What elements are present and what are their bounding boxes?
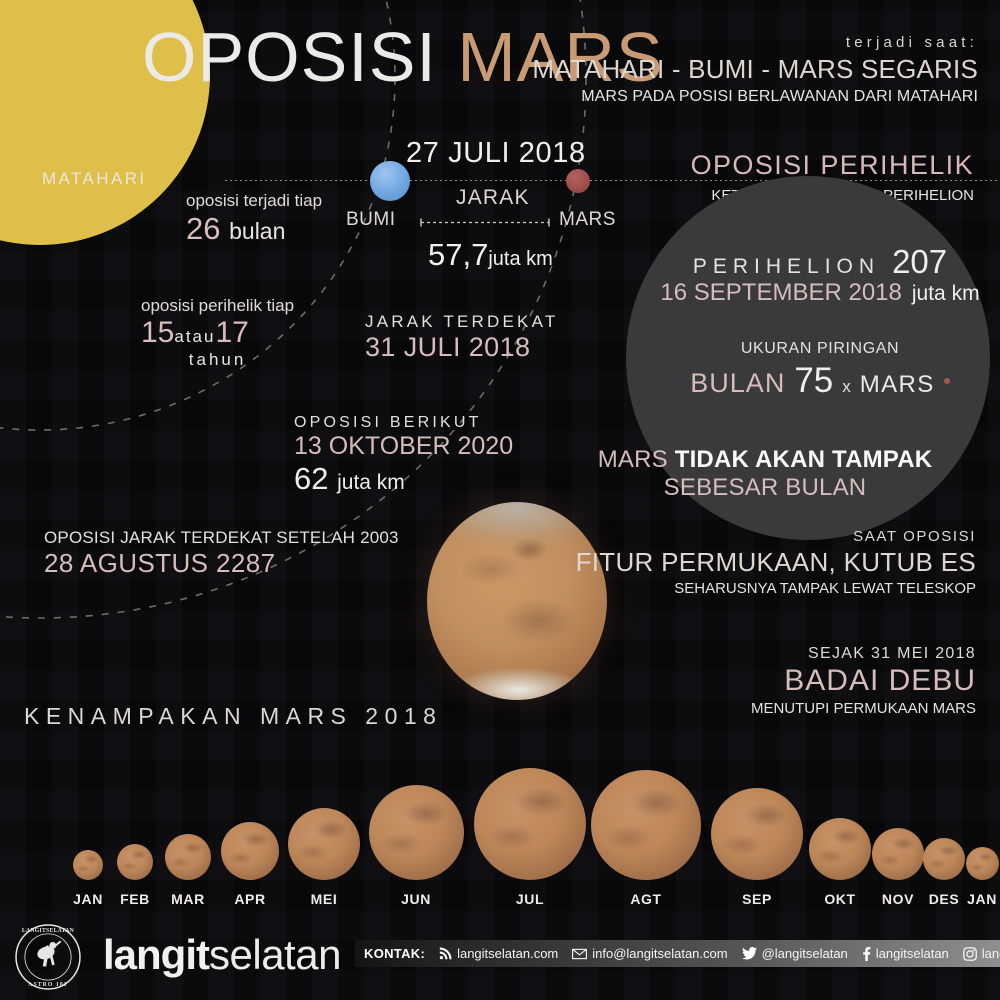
contact-email-text: info@langitselatan.com bbox=[592, 946, 727, 961]
mars-disk-label-agt-7: AGT bbox=[618, 891, 674, 907]
sun-label: MATAHARI bbox=[42, 169, 147, 189]
distance-label: JARAK bbox=[456, 186, 530, 210]
mars-disk-shape bbox=[966, 847, 999, 880]
mars-disk-jul-6 bbox=[474, 768, 586, 880]
closest-after-2003-heading: OPOSISI JARAK TERDEKAT SETELAH 2003 bbox=[44, 528, 399, 548]
surface-main: FITUR PERMUKAAN, KUTUB ES bbox=[576, 547, 976, 578]
kontak-label: KONTAK: bbox=[364, 946, 425, 961]
interval-caption: oposisi terjadi tiap bbox=[186, 191, 322, 211]
mars-disk-shape bbox=[369, 785, 464, 880]
mars-disk-label-mar-2: MAR bbox=[160, 891, 216, 907]
mars-disk-shape bbox=[474, 768, 586, 880]
mars-disk-shape bbox=[221, 822, 279, 880]
disk-size-times: x bbox=[842, 377, 851, 397]
next-opposition-unit: juta km bbox=[337, 471, 405, 494]
mars-disk-mar-2 bbox=[165, 834, 211, 880]
earth-label: BUMI bbox=[346, 209, 396, 231]
mars-disk-label-sep-8: SEP bbox=[729, 891, 785, 907]
perihelion-block: PERIHELION 207 16 SEPTEMBER 2018 juta km bbox=[655, 243, 985, 307]
contact-instagram-text: langitselatanmedia bbox=[982, 946, 1000, 961]
mars-disk-shape bbox=[809, 818, 871, 880]
disk-size-moon-word: BULAN bbox=[690, 368, 785, 399]
contact-bar: KONTAK: langitselatan.com info@langitsel… bbox=[355, 940, 1000, 967]
mars-disk-shape bbox=[73, 850, 103, 880]
mars-disk-sep-8 bbox=[711, 788, 803, 880]
disk-size-heading: UKURAN PIRINGAN bbox=[660, 340, 980, 358]
title-part-oposisi: OPOSISI bbox=[142, 18, 437, 96]
mars-not-as-big-statement: MARS TIDAK AKAN TAMPAK SEBESAR BULAN bbox=[545, 446, 985, 502]
interval-number: 26 bbox=[186, 211, 220, 246]
brand-wordmark: langitselatan bbox=[103, 934, 341, 976]
twitter-icon bbox=[742, 947, 757, 960]
svg-text:ASTRO 101: ASTRO 101 bbox=[28, 982, 67, 988]
mars-disk-label-jan-12: JAN bbox=[954, 891, 1000, 907]
closest-distance-block: JARAK TERDEKAT 31 JULI 2018 bbox=[365, 312, 558, 363]
closest-date: 31 JULI 2018 bbox=[365, 332, 558, 363]
closest-heading: JARAK TERDEKAT bbox=[365, 312, 558, 332]
mars-size-strip: JANFEBMARAPRMEIJUNJULAGTSEPOKTNOVDESJAN bbox=[0, 770, 1000, 920]
mars-disk-shape bbox=[591, 770, 701, 880]
surface-heading: SAAT OPOSISI bbox=[576, 528, 976, 545]
mars-disk-shape bbox=[923, 838, 965, 880]
svg-text:LANGITSELATAN: LANGITSELATAN bbox=[22, 928, 75, 934]
facebook-icon bbox=[862, 947, 871, 961]
contact-twitter-text: @langitselatan bbox=[762, 946, 848, 961]
mars-disk-label-okt-9: OKT bbox=[812, 891, 868, 907]
contact-website-text: langitselatan.com bbox=[457, 946, 558, 961]
perihelic-or: atau bbox=[174, 327, 215, 346]
mars-disk-des-11 bbox=[923, 838, 965, 880]
mars-disk-label-jun-5: JUN bbox=[388, 891, 444, 907]
notbig-suffix: SEBESAR BULAN bbox=[664, 474, 867, 501]
disk-size-block: UKURAN PIRINGAN BULAN 75 x MARS bbox=[660, 340, 980, 401]
perihelic-interval-block: oposisi perihelik tiap 15atau17 tahun bbox=[141, 296, 294, 370]
instagram-icon bbox=[963, 947, 977, 961]
perihelion-value: 207 bbox=[892, 243, 947, 281]
dust-storm-sub: MENUTUPI PERMUKAAN MARS bbox=[751, 700, 976, 717]
alignment-headline: MATAHARI - BUMI - MARS SEGARIS bbox=[532, 54, 978, 85]
perihelic-opposition-heading: OPOSISI PERIHELIK bbox=[691, 150, 974, 181]
distance-measure-bar-icon bbox=[420, 218, 550, 227]
perihelic-number-2: 17 bbox=[215, 316, 248, 349]
mars-disk-label-jul-6: JUL bbox=[502, 891, 558, 907]
dust-storm-heading: SEJAK 31 MEI 2018 bbox=[751, 645, 976, 663]
mars-disk-shape bbox=[711, 788, 803, 880]
mars-disk-shape bbox=[165, 834, 211, 880]
mars-mini-dot-icon bbox=[944, 378, 950, 384]
mars-disk-shape bbox=[117, 844, 153, 880]
mars-disk-shape bbox=[872, 828, 924, 880]
mars-label: MARS bbox=[559, 209, 616, 231]
langitselatan-logo-icon[interactable]: LANGITSELATAN ASTRO 101 bbox=[14, 923, 82, 991]
closest-after-2003-date: 28 AGUSTUS 2287 bbox=[44, 548, 399, 579]
perihelic-caption: oposisi perihelik tiap bbox=[141, 296, 294, 316]
brand-langit: langit bbox=[103, 931, 209, 978]
mars-disk-jan-0 bbox=[73, 850, 103, 880]
appearance-heading: KENAMPAKAN MARS 2018 bbox=[24, 703, 442, 730]
opposition-definition-block: terjadi saat: MATAHARI - BUMI - MARS SEG… bbox=[532, 34, 978, 106]
notbig-emphasis: TIDAK AKAN TAMPAK bbox=[675, 446, 933, 473]
dust-storm-block: SEJAK 31 MEI 2018 BADAI DEBU MENUTUPI PE… bbox=[751, 645, 976, 717]
contact-item-website[interactable]: langitselatan.com bbox=[439, 946, 558, 961]
rss-icon bbox=[439, 947, 452, 960]
perihelic-number-1: 15 bbox=[141, 316, 174, 349]
earth-dot bbox=[370, 161, 410, 201]
contact-item-twitter[interactable]: @langitselatan bbox=[742, 946, 848, 961]
closest-after-2003-block: OPOSISI JARAK TERDEKAT SETELAH 2003 28 A… bbox=[44, 528, 399, 579]
mars-disk-feb-1 bbox=[117, 844, 153, 880]
interval-unit: bulan bbox=[229, 218, 285, 244]
disk-size-mars-word: MARS bbox=[860, 371, 935, 399]
brand-selatan: selatan bbox=[209, 931, 341, 978]
next-opposition-value: 62 bbox=[294, 461, 328, 496]
perihelic-unit: tahun bbox=[141, 350, 294, 370]
mars-disk-apr-3 bbox=[221, 822, 279, 880]
perihelion-unit: juta km bbox=[912, 282, 980, 306]
contact-item-email[interactable]: info@langitselatan.com bbox=[572, 946, 727, 961]
disk-size-number: 75 bbox=[794, 361, 833, 401]
perihelion-label: PERIHELION bbox=[693, 255, 880, 279]
mars-disk-label-feb-1: FEB bbox=[107, 891, 163, 907]
mars-disk-agt-7 bbox=[591, 770, 701, 880]
infographic-poster: MATAHARI OPOSISI MARS terjadi saat: MATA… bbox=[0, 0, 1000, 1000]
distance-value: 57,7 bbox=[428, 237, 488, 272]
alignment-subtext: MARS PADA POSISI BERLAWANAN DARI MATAHAR… bbox=[532, 88, 978, 106]
distance-value-group: 57,7juta km bbox=[428, 237, 553, 273]
distance-unit: juta km bbox=[488, 248, 552, 270]
surface-features-block: SAAT OPOSISI FITUR PERMUKAAN, KUTUB ES S… bbox=[576, 528, 976, 597]
opposition-date: 27 JULI 2018 bbox=[406, 137, 586, 170]
mars-disk-okt-9 bbox=[809, 818, 871, 880]
mars-disk-mei-4 bbox=[288, 808, 360, 880]
mars-disk-jan-12 bbox=[966, 847, 999, 880]
surface-sub: SEHARUSNYA TAMPAK LEWAT TELESKOP bbox=[576, 580, 976, 597]
mars-dot bbox=[566, 169, 590, 193]
mars-disk-label-apr-3: APR bbox=[222, 891, 278, 907]
contact-item-facebook[interactable]: langitselatan bbox=[862, 946, 949, 961]
next-opposition-date: 13 OKTOBER 2020 bbox=[294, 432, 513, 461]
dust-storm-main: BADAI DEBU bbox=[751, 664, 976, 698]
next-opposition-block: OPOSISI BERIKUT 13 OKTOBER 2020 62 juta … bbox=[294, 414, 513, 497]
notbig-prefix: MARS bbox=[598, 446, 675, 473]
mars-disk-jun-5 bbox=[369, 785, 464, 880]
next-opposition-heading: OPOSISI BERIKUT bbox=[294, 414, 513, 432]
mail-icon bbox=[572, 948, 587, 960]
perihelion-date: 16 SEPTEMBER 2018 bbox=[660, 279, 901, 307]
mars-disk-nov-10 bbox=[872, 828, 924, 880]
contact-item-instagram[interactable]: langitselatanmedia bbox=[963, 946, 1000, 961]
contact-facebook-text: langitselatan bbox=[876, 946, 949, 961]
mars-disk-label-mei-4: MEI bbox=[296, 891, 352, 907]
terjadi-saat-label: terjadi saat: bbox=[532, 34, 978, 51]
opposition-interval-block: oposisi terjadi tiap 26 bulan bbox=[186, 191, 322, 247]
mars-disk-shape bbox=[288, 808, 360, 880]
